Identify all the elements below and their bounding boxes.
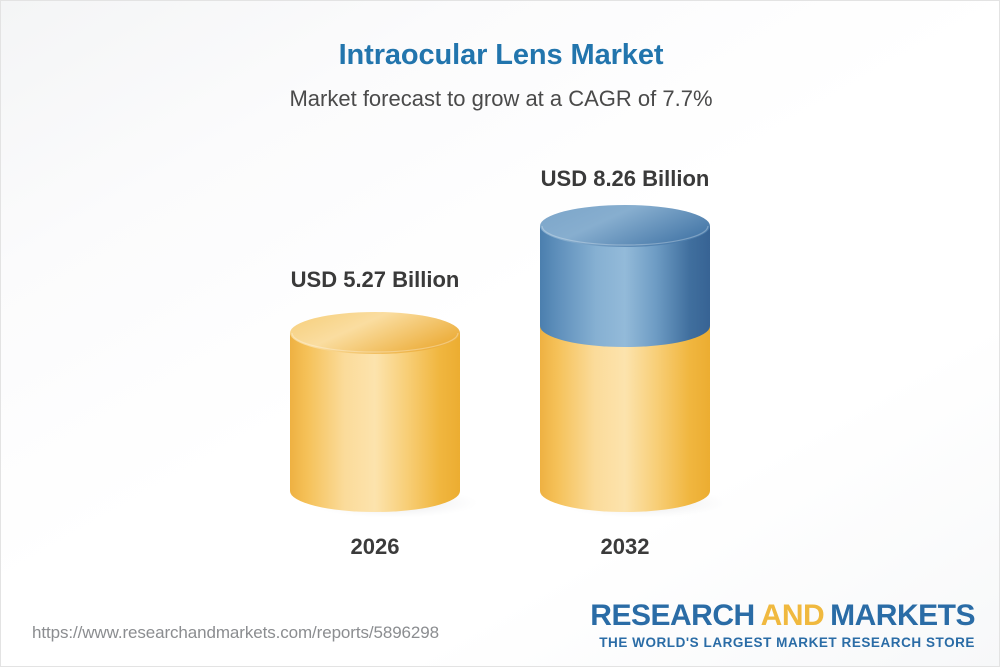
value-label-2032: USD 8.26 Billion <box>495 165 755 193</box>
report-url-link[interactable]: https://www.researchandmarkets.com/repor… <box>32 623 439 643</box>
chart-plot-area: USD 5.27 Billion USD 8.26 Billion <box>1 1 1000 667</box>
cylinder-top <box>290 312 460 354</box>
bar-cylinder-2032 <box>540 204 710 513</box>
research-and-markets-logo[interactable]: RESEARCHANDMARKETS THE WORLD'S LARGEST M… <box>590 601 975 650</box>
logo-tagline: THE WORLD'S LARGEST MARKET RESEARCH STOR… <box>590 636 975 650</box>
bar-cylinder-2026 <box>290 311 460 513</box>
logo-word-and: AND <box>755 599 831 632</box>
logo-word-markets: MARKETS <box>830 599 975 632</box>
axis-label-2026: 2026 <box>245 533 505 561</box>
cylinder-body <box>290 333 460 512</box>
cylinder-top <box>540 205 710 247</box>
axis-label-2032: 2032 <box>495 533 755 561</box>
infographic-canvas: Intraocular Lens Market Market forecast … <box>0 0 1000 667</box>
logo-wordmark: RESEARCHANDMARKETS <box>590 601 975 631</box>
logo-word-research: RESEARCH <box>590 599 754 632</box>
value-label-2026: USD 5.27 Billion <box>245 266 505 294</box>
